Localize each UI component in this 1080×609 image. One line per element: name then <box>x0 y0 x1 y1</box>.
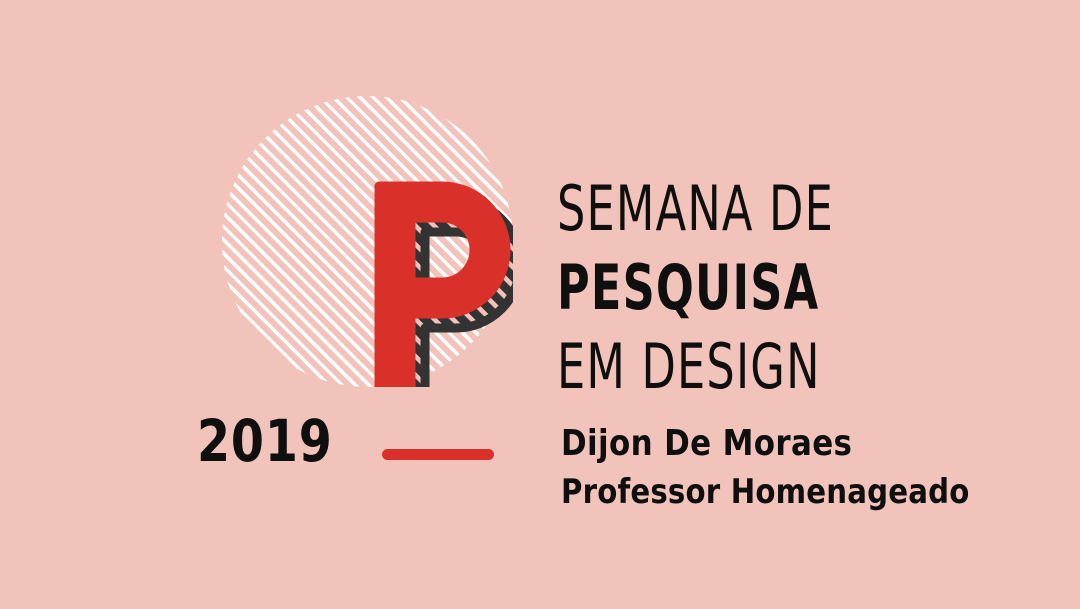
red-divider-rule <box>382 449 494 460</box>
title-line-2: PESQUISA <box>557 257 901 319</box>
p-monogram-icon <box>222 96 513 387</box>
title-line-3: EM DESIGN <box>557 336 901 398</box>
year-label: 2019 <box>197 412 333 470</box>
poster-canvas: SEMANA DE PESQUISA EM DESIGN 2019 Dijon … <box>0 0 1080 609</box>
honoree-role: Professor Homenageado <box>561 475 922 509</box>
title-line-1: SEMANA DE <box>557 178 901 240</box>
title-block: SEMANA DE PESQUISA EM DESIGN <box>557 178 987 398</box>
honoree-name: Dijon De Moraes <box>561 426 922 462</box>
credit-block: Dijon De Moraes Professor Homenageado <box>561 426 981 509</box>
